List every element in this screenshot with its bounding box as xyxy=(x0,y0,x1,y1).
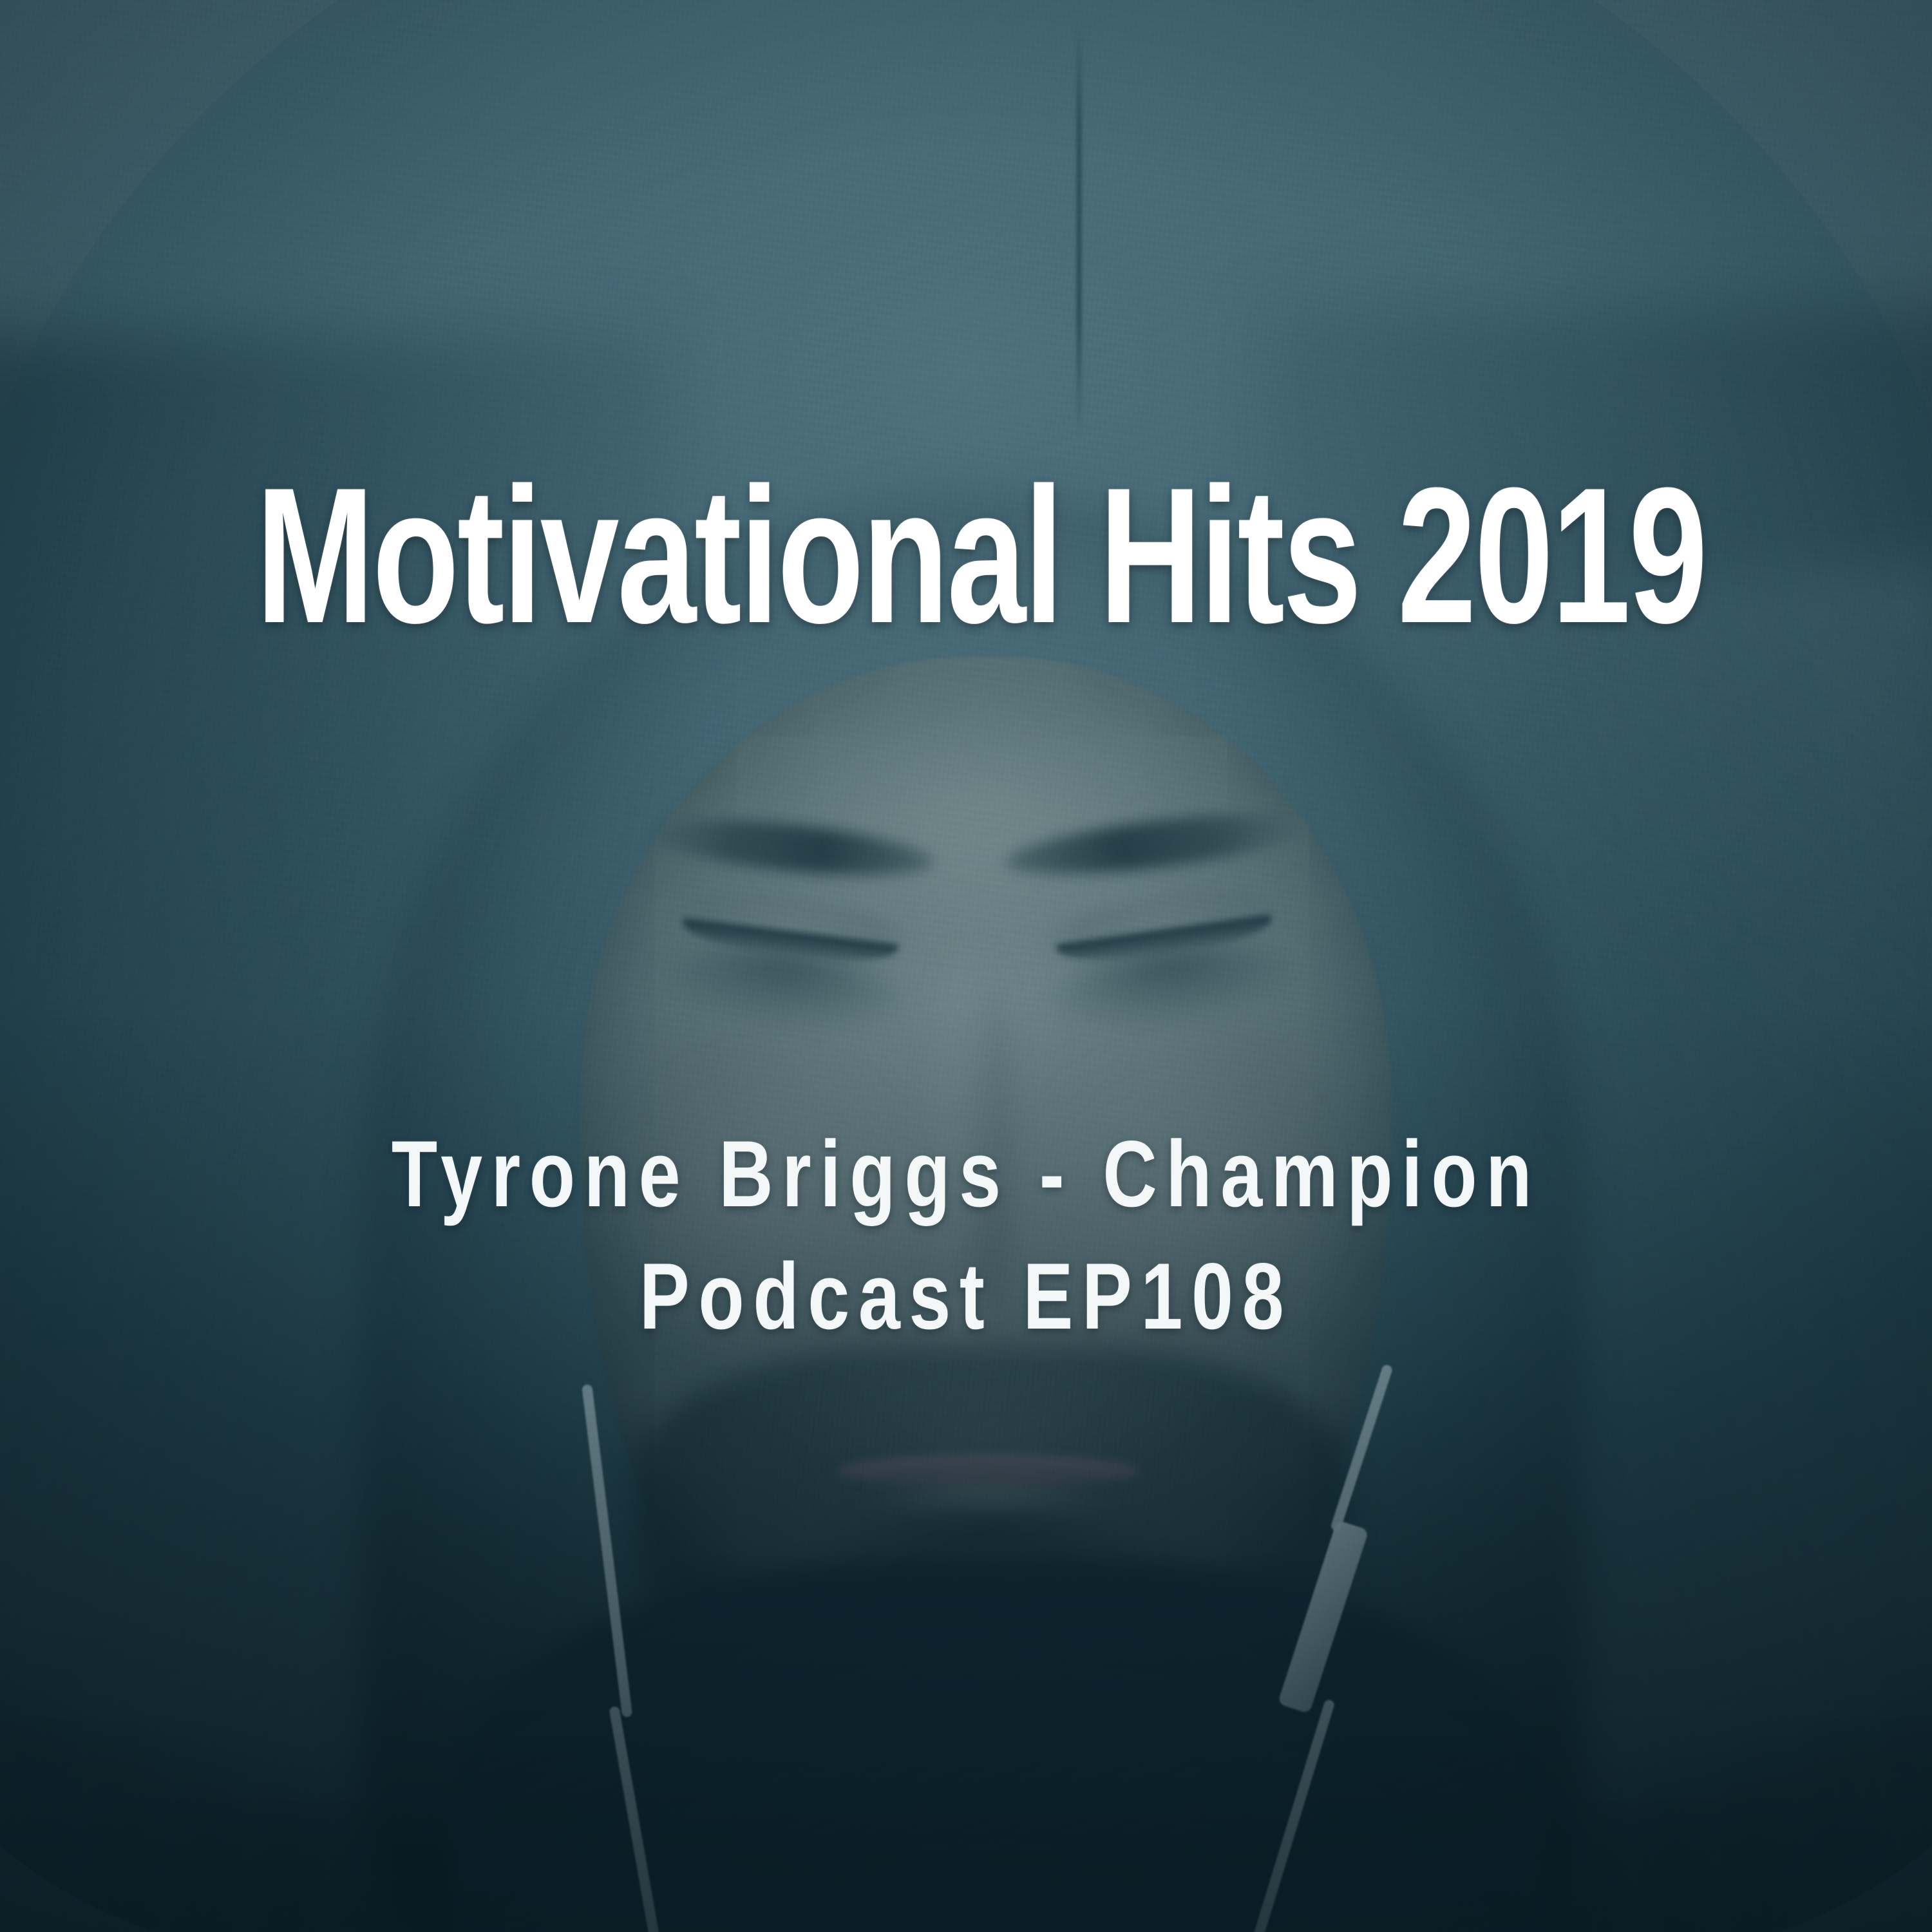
cover-subtitle: Tyrone Briggs - Champion Podcast EP108 xyxy=(193,1113,1739,1358)
text-overlay: Motivational Hits 2019 Tyrone Briggs - C… xyxy=(0,0,1932,1932)
podcast-cover-artwork: Motivational Hits 2019 Tyrone Briggs - C… xyxy=(0,0,1932,1932)
subtitle-line-2: Podcast EP108 xyxy=(193,1235,1739,1358)
subtitle-line-1: Tyrone Briggs - Champion xyxy=(193,1113,1739,1235)
cover-title: Motivational Hits 2019 xyxy=(256,459,1676,652)
